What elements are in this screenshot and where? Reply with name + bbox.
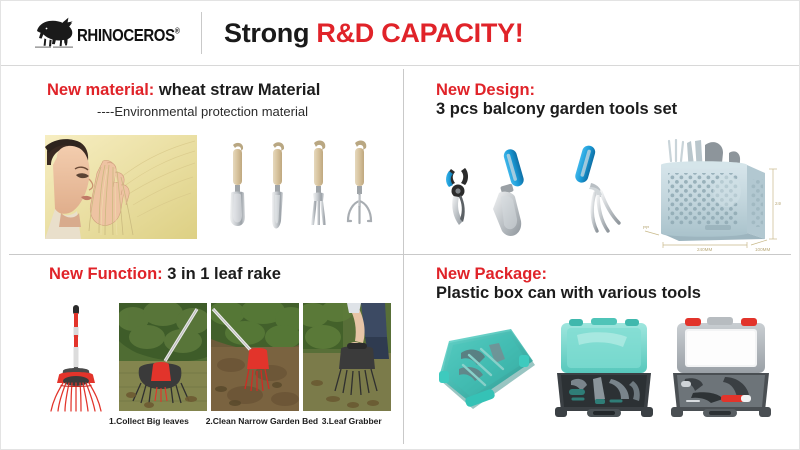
new-package-heading-red: New Package:: [436, 265, 547, 283]
svg-text:240MM: 240MM: [775, 201, 781, 206]
tool-case-teal-closed: [425, 319, 543, 421]
rhinoceros-icon: [31, 16, 77, 50]
svg-text:PP: PP: [643, 225, 649, 230]
caption-leaf-grabber: 3.Leaf Grabber: [316, 416, 401, 426]
new-design-heading-red: New Design:: [436, 81, 535, 99]
registered-mark: ®: [175, 27, 180, 35]
svg-text:100MM: 100MM: [755, 247, 770, 251]
leaf-rake-photo-garden-bed: [211, 303, 299, 411]
wheat-smelling-photo: [45, 135, 197, 239]
caption-clean-narrow-garden-bed: 2.Clean Narrow Garden Bed: [206, 416, 316, 426]
new-material-subheading: ----Environmental protection material: [97, 104, 403, 120]
balcony-garden-tool-set: 240MM 100MM 240MM PP: [425, 139, 781, 251]
tool-case-teal-open: [549, 315, 659, 421]
new-material-heading-red: New material:: [47, 81, 154, 99]
new-package-heading-black: Plastic box can with various tools: [436, 284, 701, 302]
header-divider: [201, 12, 202, 54]
new-function-heading-red: New Function:: [49, 265, 163, 283]
page-title-black: Strong: [224, 18, 316, 48]
new-function-heading-black: 3 in 1 leaf rake: [163, 265, 281, 283]
new-design-heading: New Design: 3 pcs balcony garden tools s…: [436, 81, 800, 119]
new-design-heading-black: 3 pcs balcony garden tools set: [436, 100, 677, 118]
brand-name: RHINOCEROS®: [77, 26, 179, 44]
slide: RHINOCEROS® Strong R&D CAPACITY! New mat…: [0, 0, 800, 450]
leaf-rake-photo-grabber: [303, 303, 391, 411]
brand-logo: RHINOCEROS®: [31, 16, 191, 50]
slide-header: RHINOCEROS® Strong R&D CAPACITY!: [1, 1, 799, 66]
leaf-rake-captions: 1.Collect Big leaves 2.Clean Narrow Gard…: [109, 413, 401, 429]
page-title: Strong R&D CAPACITY!: [224, 18, 523, 49]
new-material-heading-black: wheat straw Material: [154, 81, 320, 99]
page-title-red: R&D CAPACITY!: [316, 18, 523, 48]
svg-text:240MM: 240MM: [697, 247, 712, 251]
tool-case-gray-open: [665, 315, 777, 421]
caption-collect-big-leaves: 1.Collect Big leaves: [109, 416, 206, 426]
leaf-rake-photo-collect: [119, 303, 207, 411]
new-material-heading: New material: wheat straw Material: [47, 81, 403, 100]
new-function-heading: New Function: 3 in 1 leaf rake: [49, 265, 403, 284]
leaf-rake-product: [45, 301, 107, 413]
new-package-heading: New Package: Plastic box can with variou…: [436, 265, 800, 303]
wheat-straw-handle-tools: [219, 135, 391, 239]
